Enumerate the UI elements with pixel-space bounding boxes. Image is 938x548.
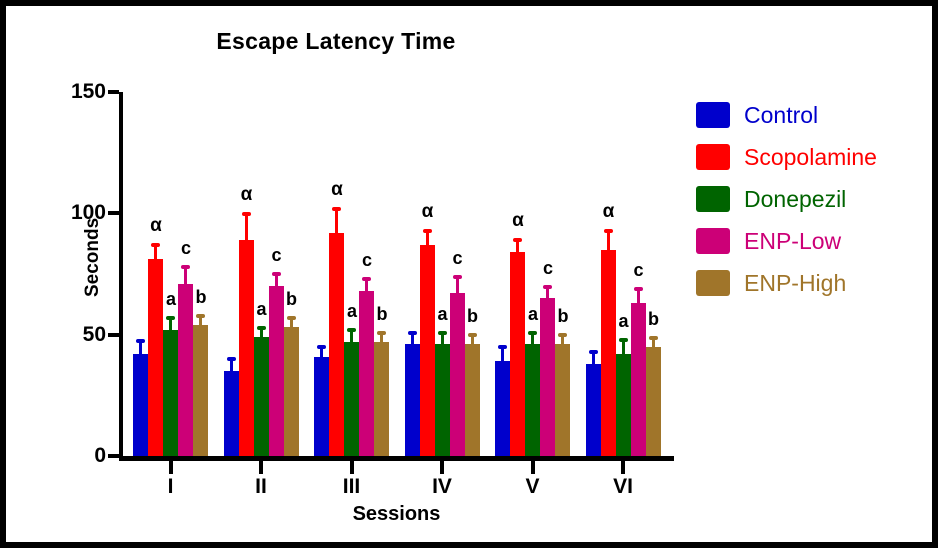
- error-bar-cap: [498, 345, 507, 349]
- significance-annotation: c: [624, 261, 654, 279]
- error-bar-cap: [377, 331, 386, 335]
- error-bar: [546, 289, 549, 299]
- x-tick-label-V: V: [503, 476, 563, 497]
- error-bar-cap: [619, 338, 628, 342]
- bar-body: [284, 327, 299, 456]
- legend-swatch: [696, 228, 730, 254]
- x-tick-label-IV: IV: [412, 476, 472, 497]
- significance-annotation: α: [232, 185, 262, 204]
- error-bar-cap: [242, 212, 251, 216]
- bar-body: [269, 286, 284, 456]
- bar-body: [344, 342, 359, 456]
- legend-swatch: [696, 186, 730, 212]
- bar-body: [555, 344, 570, 456]
- legend-label: ENP-High: [744, 270, 846, 297]
- significance-annotation: α: [322, 180, 352, 199]
- legend-item-donepezil[interactable]: Donepezil: [696, 178, 926, 220]
- x-axis-line: [119, 456, 674, 461]
- bar-body: [616, 354, 631, 456]
- error-bar: [139, 343, 142, 354]
- significance-annotation: α: [594, 202, 624, 221]
- error-bar: [637, 291, 640, 303]
- y-tick-150: [108, 90, 119, 94]
- significance-annotation: c: [171, 239, 201, 257]
- chart-legend: ControlScopolamineDonepezilENP-LowENP-Hi…: [696, 94, 926, 304]
- legend-label: Scopolamine: [744, 144, 877, 171]
- error-bar-cap: [136, 339, 145, 343]
- bar-body: [435, 344, 450, 456]
- bar-body: [148, 259, 163, 456]
- bar-group-I: αacb: [133, 92, 208, 456]
- y-tick-label-50: 50: [36, 324, 106, 345]
- x-tick-label-II: II: [231, 476, 291, 497]
- error-bar-cap: [332, 207, 341, 211]
- legend-item-control[interactable]: Control: [696, 94, 926, 136]
- y-axis-line: [119, 92, 123, 456]
- bar-body: [224, 371, 239, 456]
- error-bar-cap: [634, 287, 643, 291]
- y-tick-100: [108, 211, 119, 215]
- error-bar-cap: [347, 328, 356, 332]
- error-bar-cap: [272, 272, 281, 276]
- error-bar-cap: [453, 275, 462, 279]
- bar-body: [601, 250, 616, 456]
- error-bar-cap: [543, 285, 552, 289]
- significance-annotation: b: [548, 307, 578, 325]
- x-tick-VI: [621, 461, 625, 474]
- legend-item-scopolamine[interactable]: Scopolamine: [696, 136, 926, 178]
- bar-body: [465, 344, 480, 456]
- bar-body: [586, 364, 601, 456]
- error-bar-cap: [257, 326, 266, 330]
- significance-annotation: c: [443, 249, 473, 267]
- significance-annotation: α: [413, 202, 443, 221]
- error-bar-cap: [287, 316, 296, 320]
- error-bar: [622, 342, 625, 354]
- error-bar-cap: [513, 238, 522, 242]
- error-bar: [184, 269, 187, 284]
- error-bar: [260, 330, 263, 337]
- legend-item-enp-high[interactable]: ENP-High: [696, 262, 926, 304]
- significance-annotation: b: [367, 305, 397, 323]
- bar-body: [646, 347, 661, 456]
- error-bar-cap: [468, 333, 477, 337]
- error-bar-cap: [558, 333, 567, 337]
- significance-annotation: α: [503, 211, 533, 230]
- error-bar: [199, 318, 202, 325]
- y-tick-label-0: 0: [36, 445, 106, 466]
- bar-body: [163, 330, 178, 456]
- error-bar: [169, 320, 172, 330]
- error-bar: [531, 335, 534, 345]
- bar-body: [374, 342, 389, 456]
- error-bar: [426, 233, 429, 245]
- bar-group-IV: αacb: [405, 92, 480, 456]
- significance-annotation: α: [141, 216, 171, 235]
- bar-body: [254, 337, 269, 456]
- error-bar-cap: [604, 229, 613, 233]
- error-bar-cap: [649, 336, 658, 340]
- legend-label: Donepezil: [744, 186, 846, 213]
- error-bar: [441, 335, 444, 345]
- legend-item-enp-low[interactable]: ENP-Low: [696, 220, 926, 262]
- error-bar: [592, 354, 595, 364]
- significance-annotation: b: [277, 290, 307, 308]
- significance-annotation: b: [639, 310, 669, 328]
- bar-group-V: αacb: [495, 92, 570, 456]
- error-bar: [652, 340, 655, 347]
- error-bar: [290, 320, 293, 327]
- x-axis-title: Sessions: [119, 503, 674, 526]
- bar-body: [239, 240, 254, 456]
- bar-group-VI: αacb: [586, 92, 661, 456]
- bar-group-II: αacb: [224, 92, 299, 456]
- error-bar: [411, 335, 414, 345]
- error-bar: [607, 233, 610, 250]
- error-bar-cap: [589, 350, 598, 354]
- y-tick-label-150: 150: [36, 81, 106, 102]
- bar-body: [405, 344, 420, 456]
- error-bar: [501, 349, 504, 361]
- bar-body: [495, 361, 510, 456]
- error-bar: [516, 242, 519, 252]
- x-tick-III: [350, 461, 354, 474]
- significance-annotation: c: [352, 251, 382, 269]
- significance-annotation: b: [186, 288, 216, 306]
- y-axis-title: Seconds: [82, 218, 104, 297]
- error-bar: [275, 276, 278, 286]
- error-bar: [335, 211, 338, 233]
- bar-group-III: αacb: [314, 92, 389, 456]
- bar-body: [329, 233, 344, 456]
- legend-swatch: [696, 270, 730, 296]
- error-bar: [320, 349, 323, 356]
- bar-body: [178, 284, 193, 456]
- error-bar: [245, 216, 248, 240]
- error-bar-cap: [166, 316, 175, 320]
- x-tick-I: [169, 461, 173, 474]
- x-tick-II: [259, 461, 263, 474]
- significance-annotation: c: [533, 259, 563, 277]
- legend-swatch: [696, 102, 730, 128]
- x-tick-label-VI: VI: [593, 476, 653, 497]
- error-bar-cap: [438, 331, 447, 335]
- bar-body: [193, 325, 208, 456]
- x-tick-IV: [440, 461, 444, 474]
- legend-label: Control: [744, 102, 818, 129]
- error-bar-cap: [317, 345, 326, 349]
- error-bar-cap: [528, 331, 537, 335]
- significance-annotation: b: [458, 307, 488, 325]
- bar-body: [525, 344, 540, 456]
- error-bar-cap: [362, 277, 371, 281]
- error-bar: [561, 337, 564, 344]
- error-bar-cap: [408, 331, 417, 335]
- error-bar-cap: [227, 357, 236, 361]
- plot-area: αacbαacbαacbαacbαacbαacb IIIIIIIVVVI: [119, 92, 674, 456]
- x-tick-V: [531, 461, 535, 474]
- legend-label: ENP-Low: [744, 228, 841, 255]
- error-bar: [471, 337, 474, 344]
- bar-body: [510, 252, 525, 456]
- chart-title: Escape Latency Time: [6, 28, 666, 55]
- legend-swatch: [696, 144, 730, 170]
- error-bar: [230, 361, 233, 371]
- significance-annotation: c: [262, 246, 292, 264]
- error-bar: [350, 332, 353, 342]
- error-bar-cap: [196, 314, 205, 318]
- chart-frame: Escape Latency Time 050100150 Seconds αa…: [6, 6, 932, 542]
- error-bar: [365, 281, 368, 291]
- error-bar-cap: [151, 243, 160, 247]
- y-tick-50: [108, 333, 119, 337]
- x-tick-label-I: I: [141, 476, 201, 497]
- bar-body: [314, 357, 329, 456]
- error-bar-cap: [181, 265, 190, 269]
- y-tick-0: [108, 454, 119, 458]
- error-bar: [456, 279, 459, 294]
- error-bar: [154, 247, 157, 259]
- bar-body: [133, 354, 148, 456]
- error-bar-cap: [423, 229, 432, 233]
- error-bar: [380, 335, 383, 342]
- bar-body: [420, 245, 435, 456]
- x-tick-label-III: III: [322, 476, 382, 497]
